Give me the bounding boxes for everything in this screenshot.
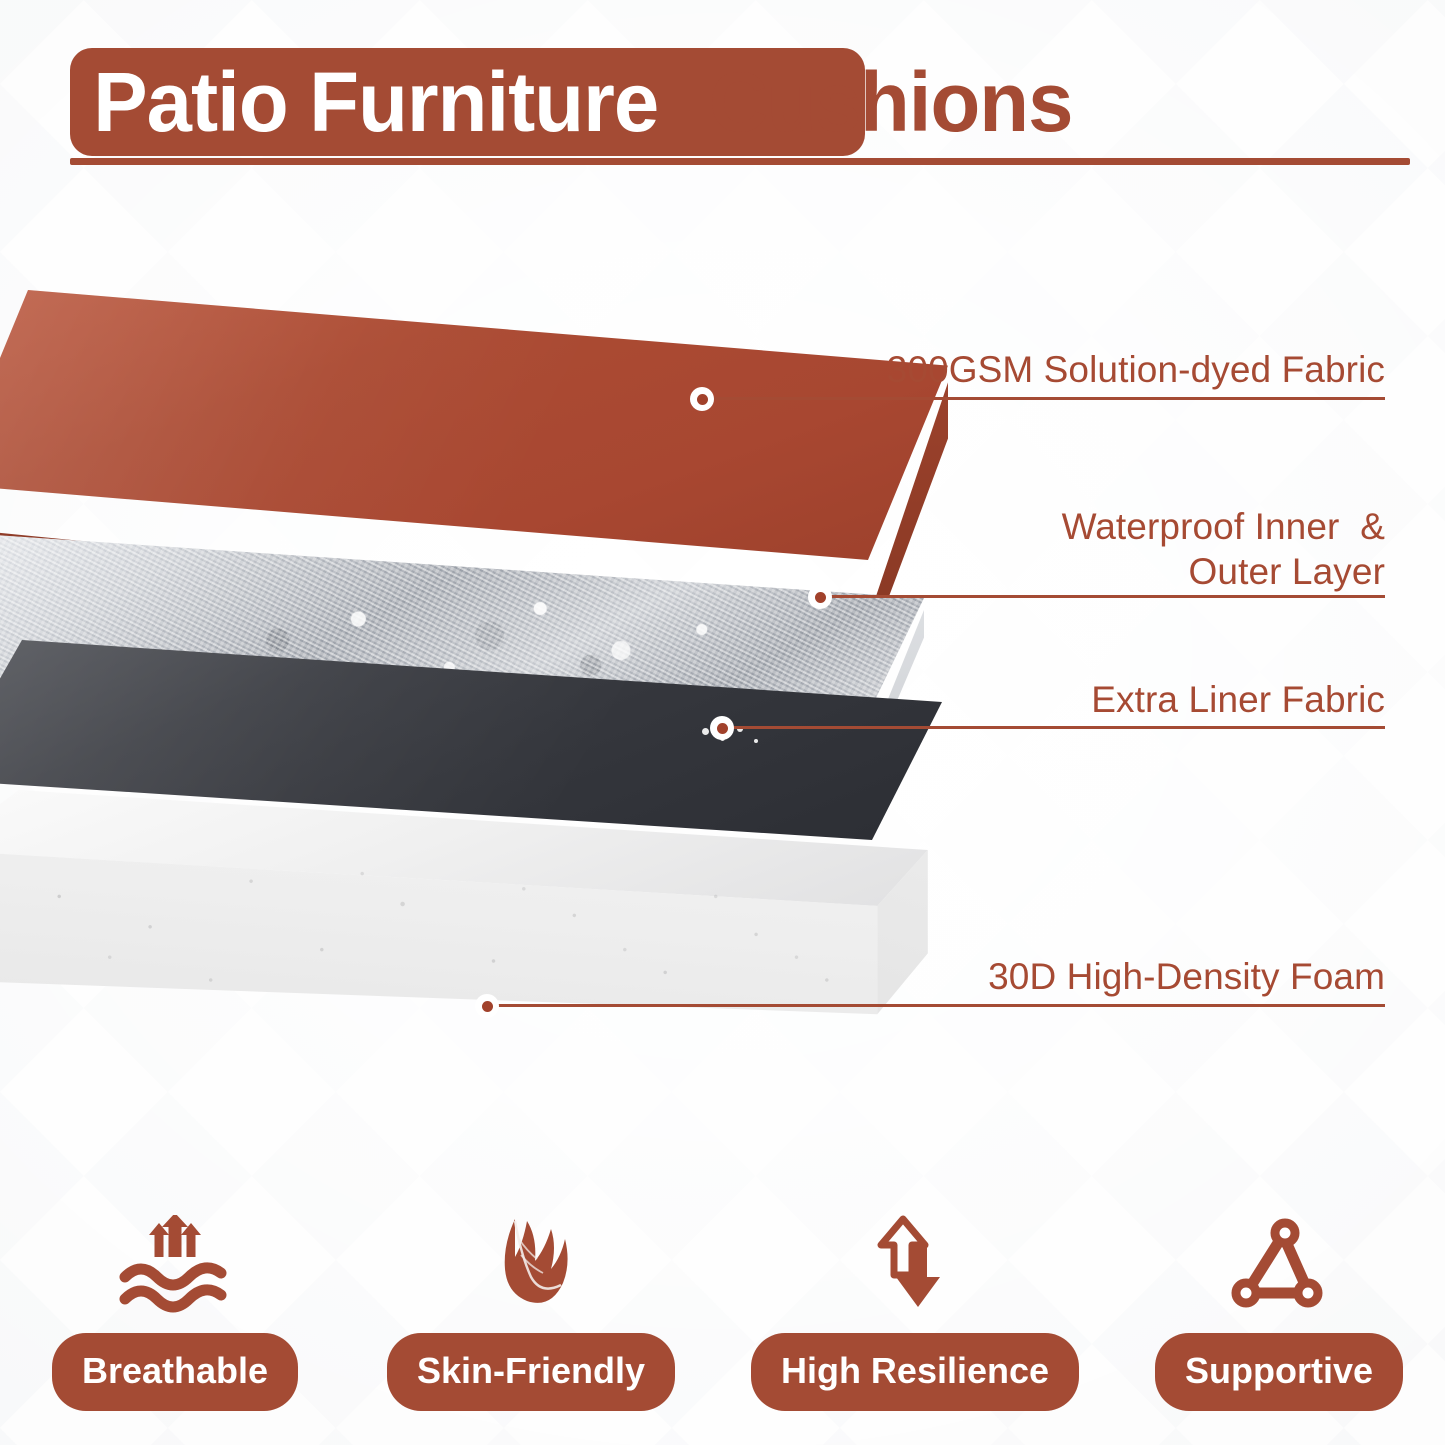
callout-dot-icon xyxy=(475,994,499,1018)
triangle-nodes-icon xyxy=(1219,1210,1339,1315)
feature-breathable-label[interactable]: Breathable xyxy=(52,1333,298,1411)
callout-leader-line xyxy=(497,1004,1385,1007)
feature-breathable[interactable]: Breathable xyxy=(62,1210,288,1411)
feature-high-resilience[interactable]: High Resilience xyxy=(765,1210,1065,1411)
feature-supportive-label[interactable]: Supportive xyxy=(1155,1333,1403,1411)
up-down-arrows-icon xyxy=(855,1210,975,1315)
feature-supportive[interactable]: Supportive xyxy=(1165,1210,1393,1411)
feature-skin-friendly[interactable]: Skin-Friendly xyxy=(400,1210,662,1411)
feather-icon xyxy=(471,1210,591,1315)
infographic-canvas: Patio Furniture Cushions xyxy=(0,0,1445,1445)
feature-high-resilience-label[interactable]: High Resilience xyxy=(751,1333,1079,1411)
callout-foam-label: 30D High-Density Foam xyxy=(785,955,1385,999)
feature-skin-friendly-label[interactable]: Skin-Friendly xyxy=(387,1333,675,1411)
feature-badge-row: Breathable Skin-Friendly H xyxy=(0,1210,1445,1445)
arrows-up-waves-icon xyxy=(115,1210,235,1315)
